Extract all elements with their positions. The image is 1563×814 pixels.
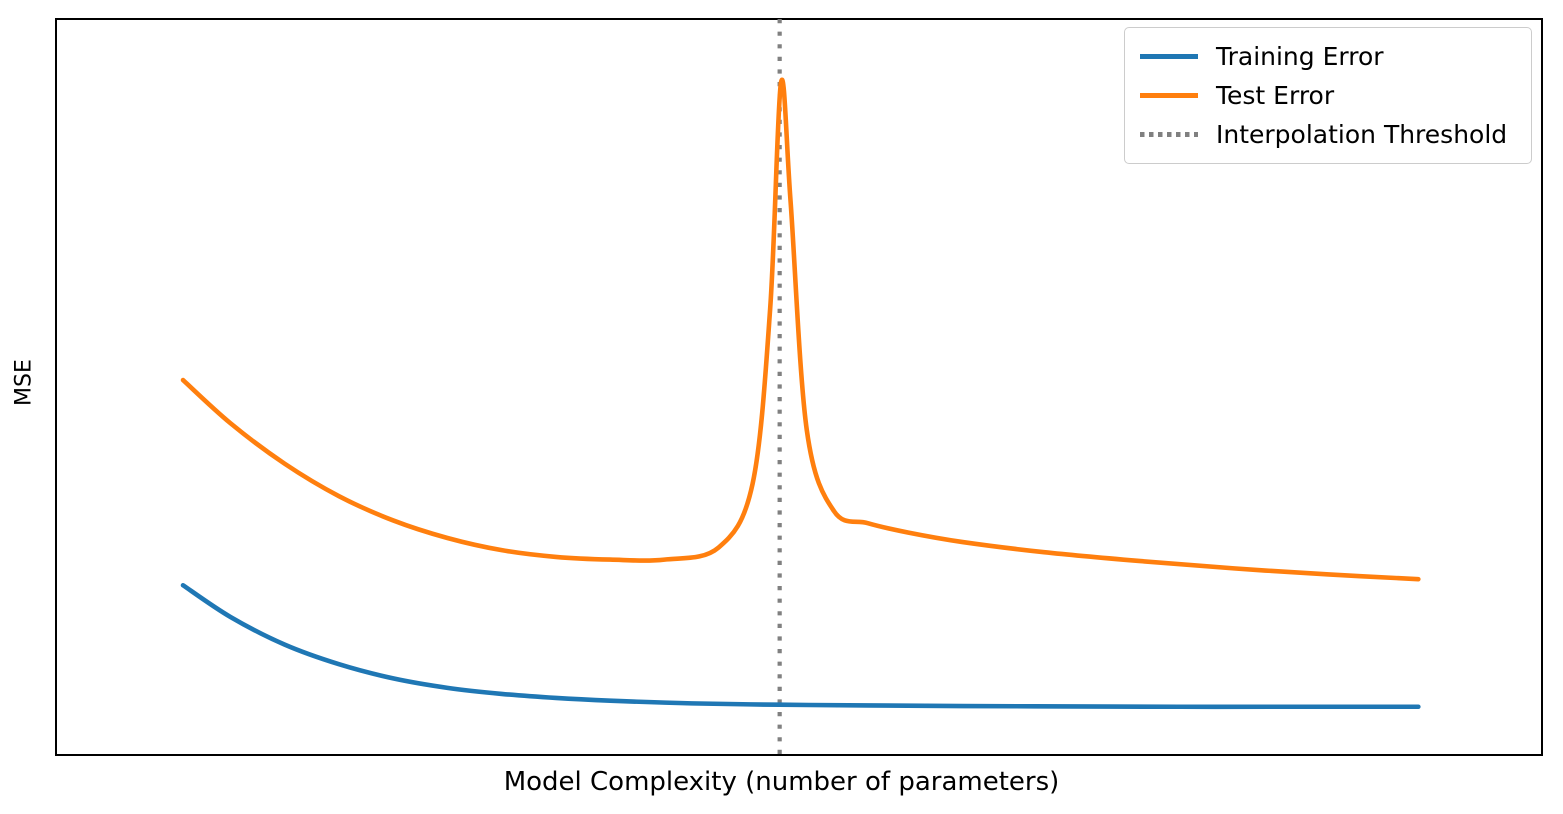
chart-legend: Training Error Test Error Interpolation … bbox=[1124, 27, 1532, 164]
legend-swatch-test-error bbox=[1138, 85, 1200, 107]
legend-item-test-error[interactable]: Test Error bbox=[1138, 76, 1518, 115]
figure-double-descent-chart: MSE Model Complexity (number of paramete… bbox=[0, 0, 1563, 814]
legend-label-training-error: Training Error bbox=[1216, 42, 1384, 72]
legend-label-test-error: Test Error bbox=[1216, 81, 1334, 111]
legend-label-interpolation-threshold: Interpolation Threshold bbox=[1216, 120, 1507, 150]
y-axis-label: MSE bbox=[12, 323, 37, 443]
legend-item-interpolation-threshold[interactable]: Interpolation Threshold bbox=[1138, 115, 1518, 154]
legend-swatch-training-error bbox=[1138, 46, 1200, 68]
x-axis-label: Model Complexity (number of parameters) bbox=[0, 762, 1563, 802]
legend-swatch-interpolation-threshold bbox=[1138, 124, 1200, 146]
legend-item-training-error[interactable]: Training Error bbox=[1138, 37, 1518, 76]
